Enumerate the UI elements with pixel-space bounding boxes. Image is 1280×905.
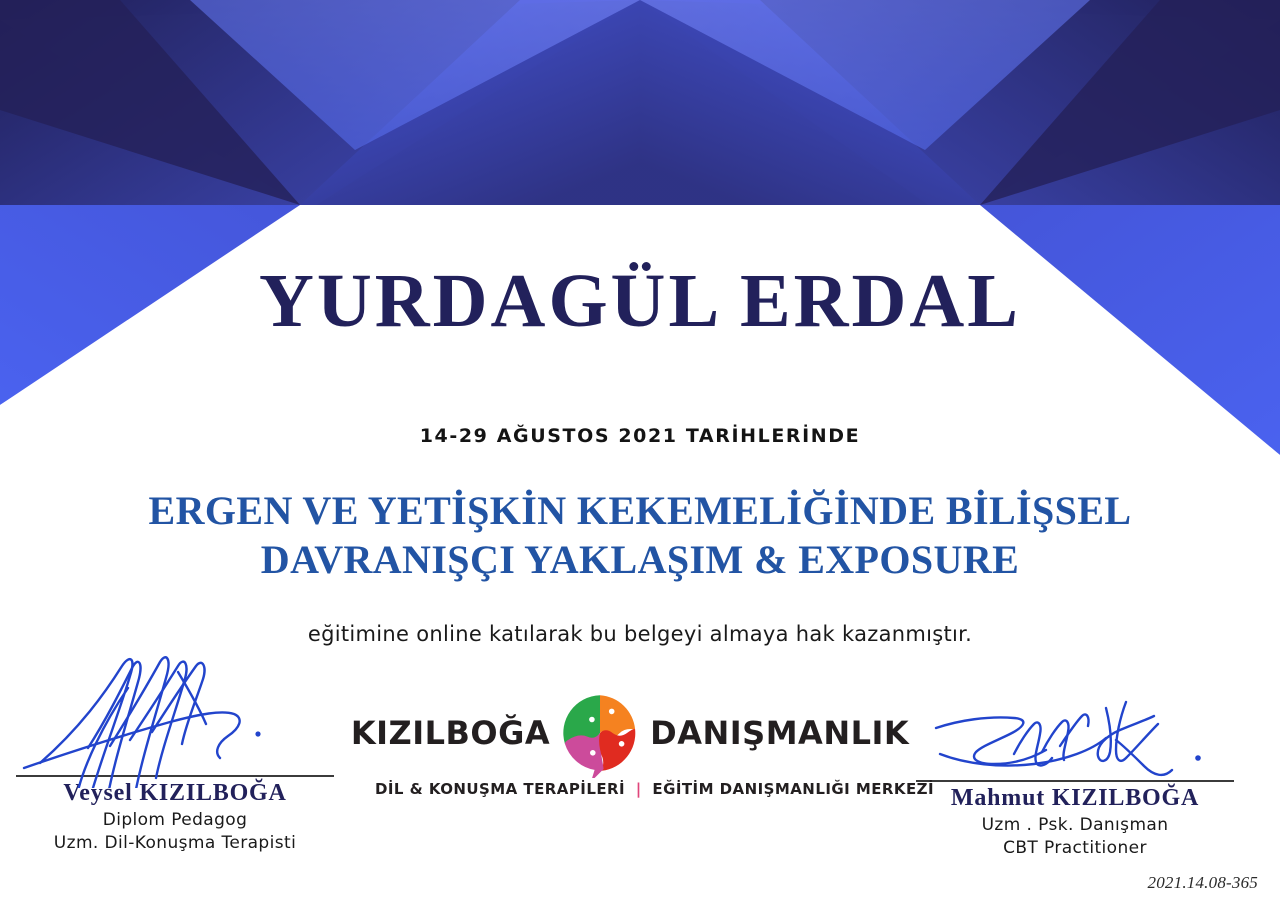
logo-main-row: KIZILBOĞA DANIŞMANLIK <box>375 688 885 778</box>
signature-mahmut-kizilboga <box>910 700 1240 780</box>
course-title-line-1: ERGEN VE YETİŞKİN KEKEMELİĞİNDE BİLİŞSEL <box>149 488 1132 533</box>
signatory-role-right: Uzm . Psk. Danışman CBT Practitioner <box>910 814 1240 860</box>
logo-tagline-left: DİL & KONUŞMA TERAPİLERİ <box>375 780 625 798</box>
date-line: 14-29 AĞUSTOS 2021 TARİHLERİNDE <box>0 425 1280 447</box>
signatory-role-left-line-2: Uzm. Dil-Konuşma Terapisti <box>10 832 340 855</box>
certificate-page: YURDAGÜL ERDAL 14-29 AĞUSTOS 2021 TARİHL… <box>0 0 1280 905</box>
organization-logo: KIZILBOĞA DANIŞMANLIK DİL & KONUŞMA TERA… <box>375 688 885 798</box>
signatory-role-left: Diplom Pedagog Uzm. Dil-Konuşma Terapist… <box>10 809 340 855</box>
puzzle-circle-logo-icon <box>554 688 646 778</box>
logo-word-left: KIZILBOĞA <box>351 714 550 752</box>
logo-tagline: DİL & KONUŞMA TERAPİLERİ | EĞİTİM DANIŞM… <box>375 780 885 798</box>
signature-block-right: Mahmut KIZILBOĞA Uzm . Psk. Danışman CBT… <box>910 700 1240 860</box>
logo-tagline-divider: | <box>631 780 647 798</box>
course-title: ERGEN VE YETİŞKİN KEKEMELİĞİNDE BİLİŞSEL… <box>0 487 1280 585</box>
logo-tagline-right: EĞİTİM DANIŞMANLIĞI MERKEZİ <box>652 780 934 798</box>
course-title-line-2: DAVRANIŞÇI YAKLAŞIM & EXPOSURE <box>0 536 1280 585</box>
recipient-name: YURDAGÜL ERDAL <box>0 262 1280 342</box>
signature-block-left: Veysel KIZILBOĞA Diplom Pedagog Uzm. Dil… <box>10 660 340 855</box>
signatory-role-left-line-1: Diplom Pedagog <box>10 809 340 832</box>
logo-word-right: DANIŞMANLIK <box>650 714 909 752</box>
signatory-role-right-line-1: Uzm . Psk. Danışman <box>910 814 1240 837</box>
signature-veysel-kizilboga <box>10 660 340 775</box>
signatory-role-right-line-2: CBT Practitioner <box>910 837 1240 860</box>
completion-statement: eğitimine online katılarak bu belgeyi al… <box>0 622 1280 646</box>
certificate-number: 2021.14.08-365 <box>1148 873 1258 893</box>
